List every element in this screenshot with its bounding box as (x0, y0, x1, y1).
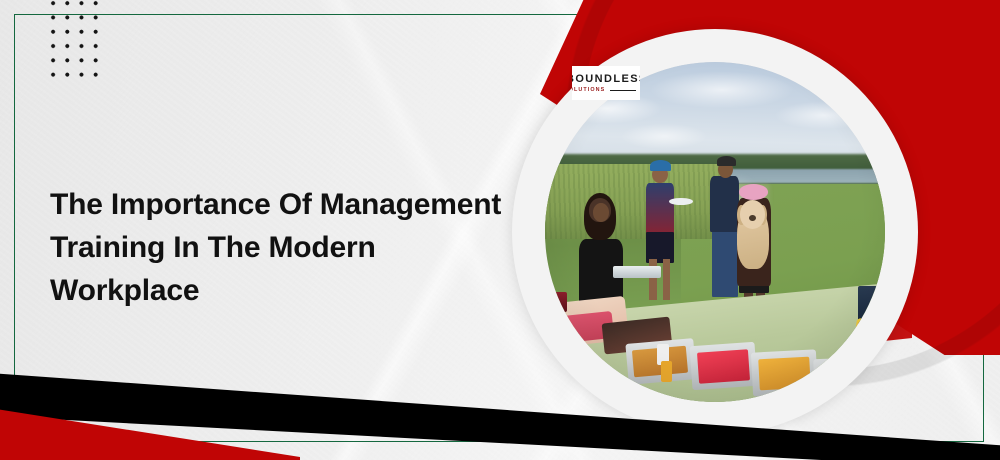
photo-person-front-tray (613, 266, 661, 278)
photo-person-grill-jeans (712, 229, 738, 297)
photo-tray-watermelon-food (697, 349, 750, 383)
logo-divider-rule (610, 90, 636, 91)
photo-cup-orange (661, 361, 673, 381)
logo-wordmark: BOUNDLESS (572, 73, 640, 85)
photo-person-grill-body (710, 176, 739, 232)
photo-dog-nose (749, 215, 756, 221)
photo-person-grill-cap (717, 156, 736, 166)
photo-person-front-face (593, 203, 609, 221)
logo-tagline: SOLUTIONS (572, 87, 605, 93)
photo-person-tanktop-body (646, 183, 674, 237)
photo-tray-macaroni-food (758, 356, 811, 389)
photo-reeds (545, 164, 729, 239)
photo-person-tanktop-shorts (646, 232, 673, 263)
photo-person-tanktop-leg-right (663, 259, 671, 300)
blog-banner: BOUNDLESS SOLUTIONS The Importance Of Ma… (0, 0, 1000, 460)
photo-tray-ribs-food (820, 364, 875, 396)
dot-grid-pattern (46, 0, 102, 82)
page-title: The Importance Of Management Training In… (50, 183, 510, 312)
photo-person-tanktop-cap (650, 160, 671, 172)
hero-photo (545, 62, 885, 402)
photo-person-dog-hat (739, 184, 768, 200)
photo-condiment-jar (554, 292, 568, 312)
watermark-logo: BOUNDLESS SOLUTIONS (572, 66, 640, 100)
